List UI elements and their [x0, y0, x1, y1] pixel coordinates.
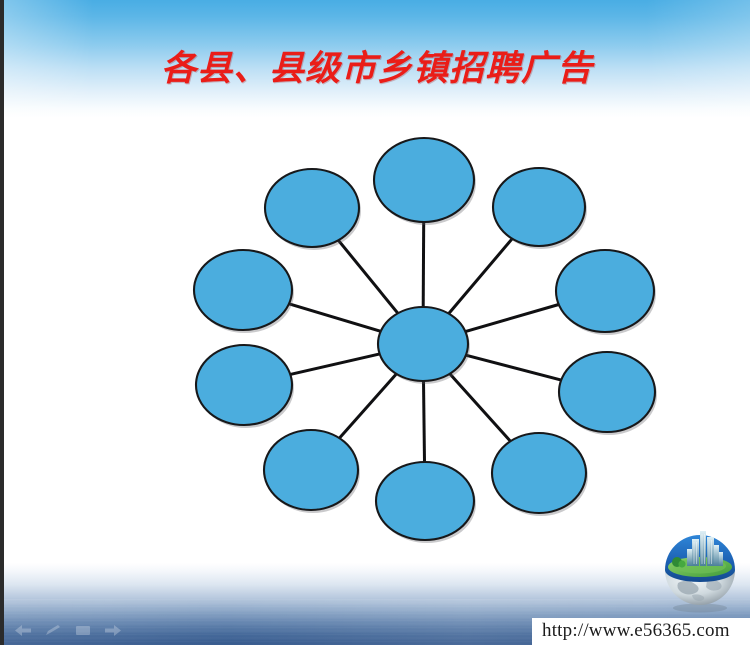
diagram-node-top-left-shape[interactable]	[265, 169, 359, 247]
presentation-slide: 各县、县级市乡镇招聘广告	[0, 0, 750, 645]
diagram-node-right-upper[interactable]	[556, 250, 654, 332]
diagram-node-top-right[interactable]	[493, 168, 585, 246]
diagram-node-bottom-left[interactable]	[264, 430, 358, 510]
spoke-line	[465, 305, 558, 332]
diagram-center-node-shape[interactable]	[378, 307, 468, 381]
diagram-node-left-lower-shape[interactable]	[196, 345, 292, 425]
watermark-url: http://www.e56365.com	[542, 620, 730, 642]
diagram-node-bottom-shape[interactable]	[376, 462, 474, 540]
node-group	[194, 138, 655, 540]
diagram-node-left-upper-shape[interactable]	[194, 250, 292, 330]
radial-hub-diagram	[4, 0, 750, 645]
pen-icon[interactable]	[44, 623, 62, 637]
diagram-node-top-left[interactable]	[265, 169, 359, 247]
diagram-node-right-lower-shape[interactable]	[559, 352, 655, 432]
spoke-line	[424, 381, 425, 462]
spoke-line	[289, 304, 381, 332]
diagram-node-left-lower[interactable]	[196, 345, 292, 425]
diagram-node-bottom-right-shape[interactable]	[492, 433, 586, 513]
previous-arrow-icon[interactable]	[14, 623, 32, 637]
diagram-node-top[interactable]	[374, 138, 474, 222]
diagram-node-bottom[interactable]	[376, 462, 474, 540]
spoke-line	[423, 222, 424, 307]
spoke-line	[290, 354, 379, 375]
diagram-node-right-upper-shape[interactable]	[556, 250, 654, 332]
globe-city-logo	[652, 521, 748, 617]
spoke-line	[450, 374, 511, 441]
spoke-line	[449, 239, 513, 314]
spoke-line	[338, 240, 398, 313]
diagram-node-top-shape[interactable]	[374, 138, 474, 222]
next-arrow-icon[interactable]	[104, 623, 122, 637]
menu-box-icon[interactable]	[74, 623, 92, 637]
diagram-node-bottom-left-shape[interactable]	[264, 430, 358, 510]
diagram-node-bottom-right[interactable]	[492, 433, 586, 513]
diagram-node-right-lower[interactable]	[559, 352, 655, 432]
diagram-node-top-right-shape[interactable]	[493, 168, 585, 246]
diagram-node-left-upper[interactable]	[194, 250, 292, 330]
spoke-line	[466, 355, 561, 380]
slideshow-nav-controls[interactable]	[14, 623, 122, 637]
spoke-line	[339, 374, 396, 438]
diagram-center-node[interactable]	[378, 307, 468, 381]
